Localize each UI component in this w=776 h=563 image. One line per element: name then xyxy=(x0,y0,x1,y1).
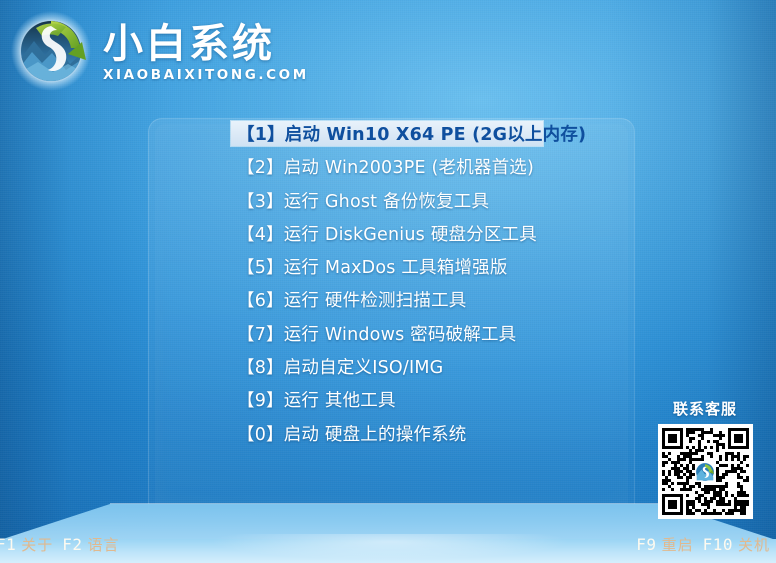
function-key-f10[interactable]: F10关机 xyxy=(703,534,770,555)
boot-menu-item-5[interactable]: 【5】运行 MaxDos 工具箱增强版 xyxy=(231,254,543,279)
function-keys-left: F1关于F2语言 xyxy=(0,534,120,555)
function-key-code: F10 xyxy=(703,535,733,554)
boot-menu-item-6[interactable]: 【6】运行 硬件检测扫描工具 xyxy=(231,287,543,312)
boot-menu-item-8[interactable]: 【8】启动自定义ISO/IMG xyxy=(231,354,543,379)
boot-menu-item-2[interactable]: 【2】启动 Win2003PE (老机器首选) xyxy=(231,154,543,179)
function-key-label: 重启 xyxy=(662,534,694,555)
boot-menu-item-7[interactable]: 【7】运行 Windows 密码破解工具 xyxy=(231,321,543,346)
brand-name-cn: 小白系统 xyxy=(103,23,309,65)
brand-logo: 小白系统 XIAOBAIXITONG.COM xyxy=(8,8,309,94)
function-key-label: 语言 xyxy=(88,534,120,555)
boot-menu-item-1[interactable]: 【1】启动 Win10 X64 PE (2G以上内存) xyxy=(231,121,543,146)
support-label: 联系客服 xyxy=(650,398,760,419)
qr-code-icon[interactable] xyxy=(658,424,753,519)
qr-center-logo-icon xyxy=(696,462,715,481)
function-key-label: 关于 xyxy=(21,534,53,555)
function-key-label: 关机 xyxy=(738,534,770,555)
boot-menu-item-4[interactable]: 【4】运行 DiskGenius 硬盘分区工具 xyxy=(231,221,543,246)
boot-menu-item-9[interactable]: 【9】运行 其他工具 xyxy=(231,387,543,412)
function-key-f9[interactable]: F9重启 xyxy=(636,534,693,555)
boot-menu-item-3[interactable]: 【3】运行 Ghost 备份恢复工具 xyxy=(231,188,543,213)
function-key-f2[interactable]: F2语言 xyxy=(62,534,119,555)
function-key-code: F2 xyxy=(62,535,82,554)
boot-menu-list[interactable]: 【1】启动 Win10 X64 PE (2G以上内存)【2】启动 Win2003… xyxy=(231,121,543,454)
function-key-code: F9 xyxy=(636,535,656,554)
boot-menu-screen: 小白系统 XIAOBAIXITONG.COM 【1】启动 Win10 X64 P… xyxy=(0,0,776,563)
boot-menu-item-0[interactable]: 【0】启动 硬盘上的操作系统 xyxy=(231,421,543,446)
brand-name-en: XIAOBAIXITONG.COM xyxy=(103,67,309,83)
brand-wordmark: 小白系统 XIAOBAIXITONG.COM xyxy=(103,19,309,83)
function-keys-right: F9重启F10关机 xyxy=(636,534,770,555)
function-key-f1[interactable]: F1关于 xyxy=(0,534,53,555)
function-key-code: F1 xyxy=(0,535,16,554)
customer-support-block: 联系客服 xyxy=(650,398,760,519)
recycle-arrow-logo-icon xyxy=(8,8,94,94)
